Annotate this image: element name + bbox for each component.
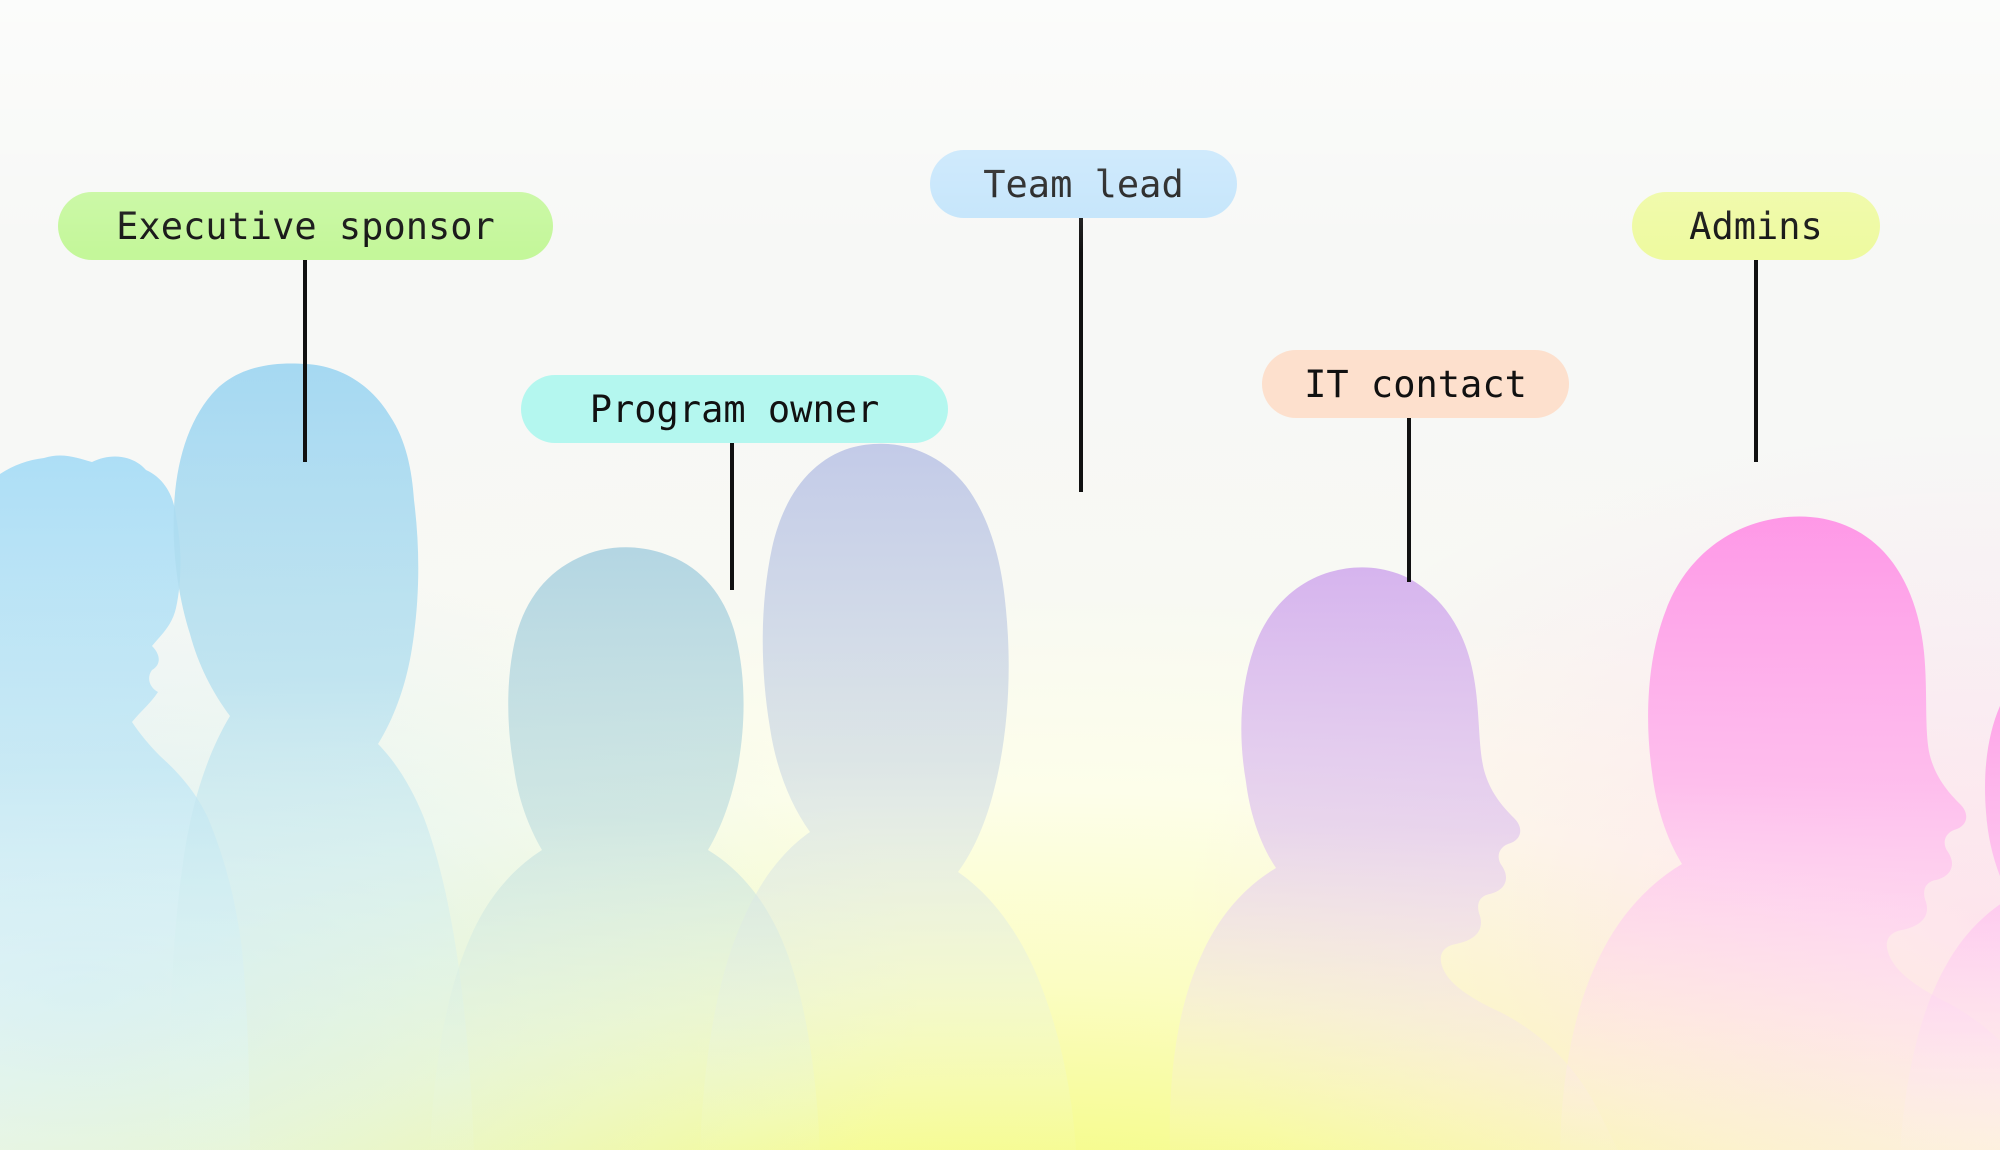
callout-nodes: Executive sponsor Program owner Team lea… [0,0,2000,1150]
callout-label-admins: Admins [1689,208,1823,245]
connector-program-owner [730,443,734,590]
connector-it-contact [1407,418,1411,582]
callout-label-team-lead: Team lead [983,166,1183,203]
callout-label-it-contact: IT contact [1304,366,1527,403]
diagram-canvas: Executive sponsor Program owner Team lea… [0,0,2000,1150]
connector-team-lead [1079,218,1083,492]
callout-pill-it-contact[interactable]: IT contact [1262,350,1569,418]
callout-label-program-owner: Program owner [590,391,880,428]
connector-admins [1754,260,1758,462]
callout-pill-admins[interactable]: Admins [1632,192,1880,260]
callout-pill-program-owner[interactable]: Program owner [521,375,948,443]
callout-label-executive-sponsor: Executive sponsor [116,208,495,245]
callout-pill-executive-sponsor[interactable]: Executive sponsor [58,192,553,260]
connector-executive-sponsor [303,260,307,462]
callout-pill-team-lead[interactable]: Team lead [930,150,1237,218]
